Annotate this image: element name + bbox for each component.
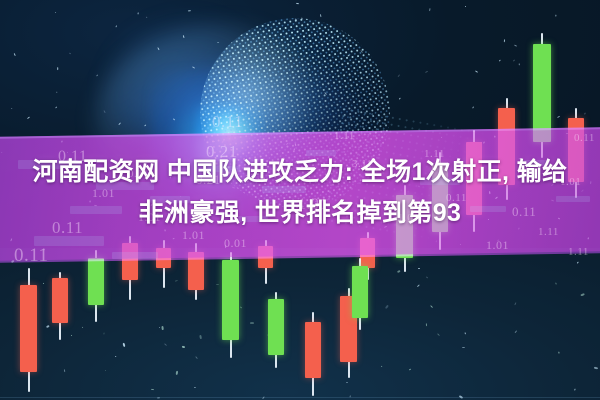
price-label: 1.11 — [334, 130, 355, 142]
page-title: 河南配资网 中国队进攻乏力: 全场1次射正, 输给 非洲豪强, 世界排名掉到第9… — [0, 152, 600, 234]
price-label: 1.11 — [568, 246, 589, 258]
headline-line-1: 河南配资网 中国队进攻乏力: 全场1次射正, 输给 — [32, 158, 567, 186]
bottom-divider — [0, 397, 600, 398]
price-label: 0.11 — [212, 112, 243, 132]
price-label: 1.01 — [486, 238, 509, 253]
price-label: 0.11 — [574, 132, 595, 144]
headline-line-2: 非洲豪强, 世界排名掉到第93 — [22, 193, 578, 234]
price-label: 0.11 — [14, 245, 49, 267]
price-label: 0.01 — [224, 236, 247, 251]
news-banner-image: 0.110.110.111.010.111.011.010.110.210.21… — [0, 0, 600, 400]
